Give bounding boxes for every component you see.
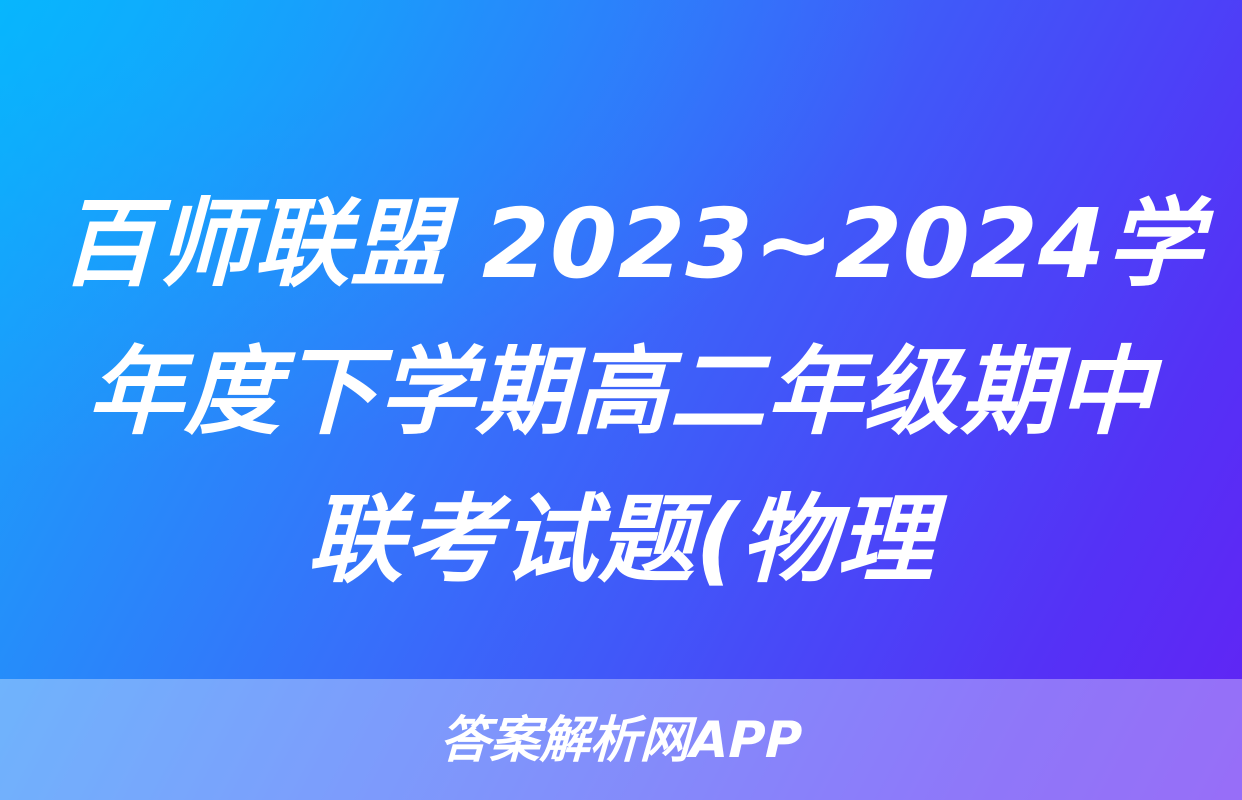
title-line-3: 联考试题(物理 [59,466,1184,614]
title-card: 百师联盟 2023~2024学 年度下学期高二年级期中 联考试题(物理 答案解析… [0,0,1242,800]
title-line-1: 百师联盟 2023~2024学 [59,170,1184,318]
page-title: 百师联盟 2023~2024学 年度下学期高二年级期中 联考试题(物理 [0,170,1242,614]
watermark-band: 答案解析网APP [0,679,1242,800]
watermark-app-name: 答案解析网APP [439,715,803,765]
title-line-2: 年度下学期高二年级期中 [59,318,1184,466]
